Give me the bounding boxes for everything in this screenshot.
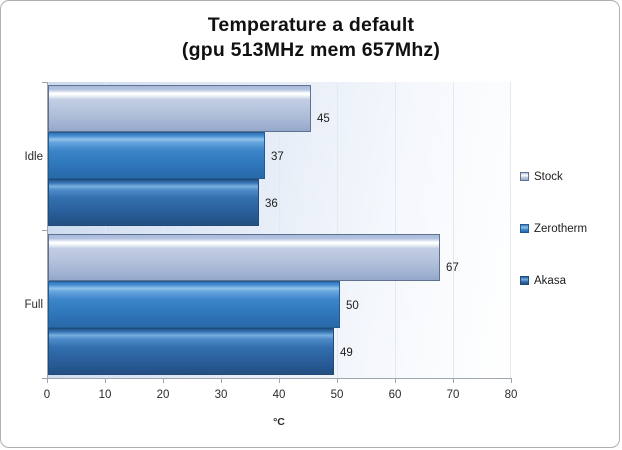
bar-full-stock[interactable] — [48, 234, 440, 281]
data-label-idle-zerotherm: 37 — [271, 151, 284, 163]
category-label-full: Full — [3, 299, 43, 311]
x-tick-30 — [221, 378, 222, 383]
legend-label-akasa: Akasa — [534, 275, 566, 287]
data-label-full-zerotherm: 50 — [346, 300, 359, 312]
x-axis-label-0: 0 — [27, 389, 67, 401]
x-tick-70 — [453, 378, 454, 383]
bar-idle-stock[interactable] — [48, 85, 311, 132]
legend-label-zerotherm: Zerotherm — [534, 223, 587, 235]
gridline-80 — [510, 82, 511, 378]
data-label-full-stock: 67 — [446, 262, 459, 274]
chart-title-line2: (gpu 513MHz mem 657Mhz) — [61, 38, 561, 63]
category-label-idle: Idle — [3, 151, 43, 163]
x-tick-20 — [163, 378, 164, 383]
x-axis-label-40: 40 — [259, 389, 299, 401]
y-tick-top — [42, 82, 47, 83]
data-label-full-akasa: 49 — [340, 347, 353, 359]
data-label-idle-stock: 45 — [317, 113, 330, 125]
x-axis-label-20: 20 — [143, 389, 183, 401]
x-axis-label-50: 50 — [317, 389, 357, 401]
gridline-60 — [395, 82, 396, 378]
gridline-50 — [337, 82, 338, 378]
data-label-idle-akasa: 36 — [265, 198, 278, 210]
legend-swatch-zerotherm-icon — [520, 224, 529, 233]
x-axis-label-30: 30 — [201, 389, 241, 401]
chart-frame: Temperature a default (gpu 513MHz mem 65… — [0, 0, 620, 448]
legend-item-stock[interactable]: Stock — [520, 171, 563, 183]
legend-swatch-akasa-icon — [520, 276, 529, 285]
x-axis-label-70: 70 — [433, 389, 473, 401]
chart-title: Temperature a default (gpu 513MHz mem 65… — [61, 13, 561, 63]
legend-label-stock: Stock — [534, 171, 563, 183]
x-axis-title: °C — [47, 416, 511, 428]
x-tick-0 — [47, 378, 48, 383]
x-axis-label-60: 60 — [375, 389, 415, 401]
bar-idle-zerotherm[interactable] — [48, 132, 265, 179]
bar-full-zerotherm[interactable] — [48, 281, 340, 328]
x-tick-60 — [395, 378, 396, 383]
x-tick-10 — [105, 378, 106, 383]
x-tick-40 — [279, 378, 280, 383]
x-tick-80 — [511, 378, 512, 383]
y-tick-mid — [42, 230, 47, 231]
legend-item-zerotherm[interactable]: Zerotherm — [520, 223, 587, 235]
bar-idle-akasa[interactable] — [48, 179, 259, 226]
chart-title-line1: Temperature a default — [208, 14, 414, 36]
legend-item-akasa[interactable]: Akasa — [520, 275, 566, 287]
gridline-70 — [453, 82, 454, 378]
x-axis-label-10: 10 — [85, 389, 125, 401]
bar-full-akasa[interactable] — [48, 328, 334, 375]
legend-swatch-stock-icon — [520, 172, 529, 181]
x-tick-50 — [337, 378, 338, 383]
x-axis-label-80: 80 — [491, 389, 531, 401]
